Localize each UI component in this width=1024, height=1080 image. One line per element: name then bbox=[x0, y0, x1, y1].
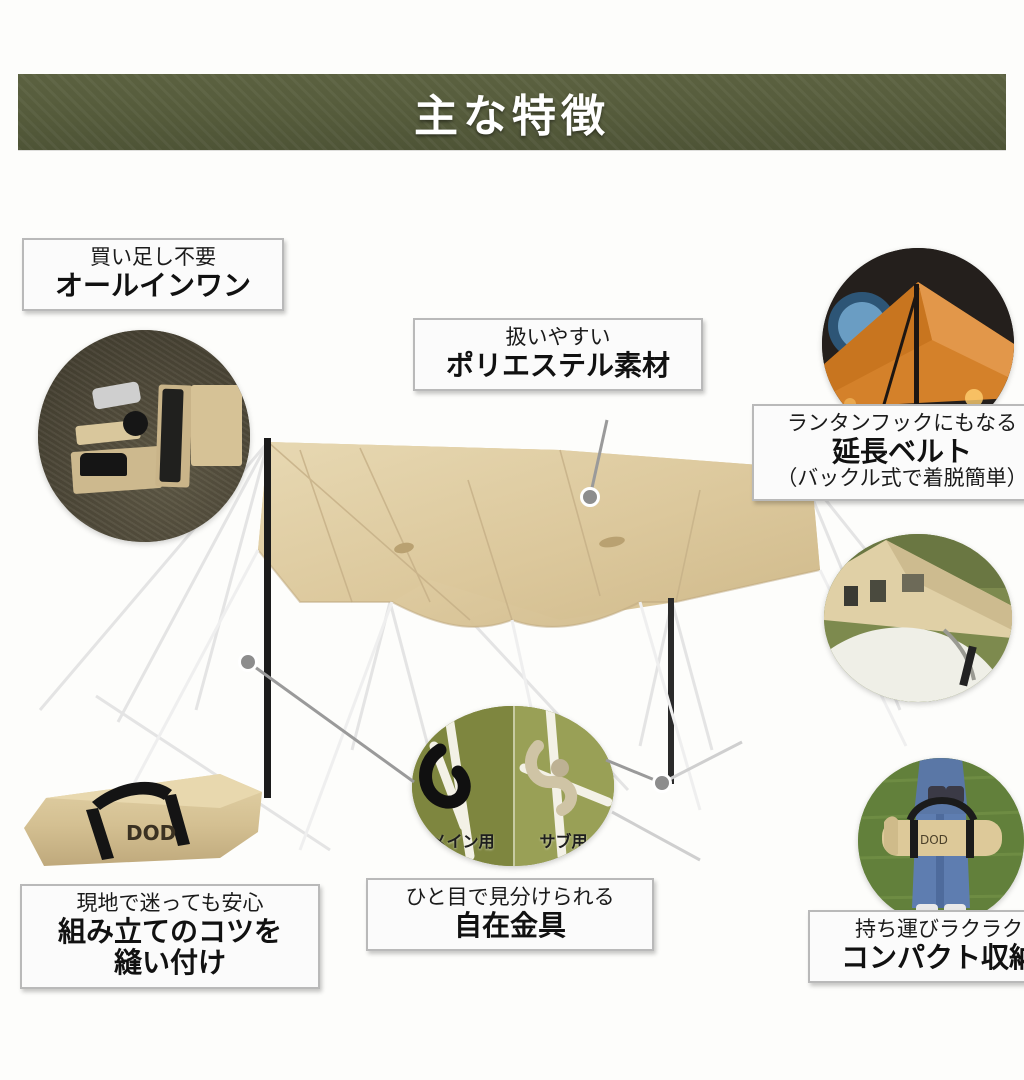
callout-label-compact-storage: 持ち運びラクラク コンパクト収納 bbox=[808, 910, 1024, 983]
callout-dot-runner-left bbox=[238, 652, 258, 672]
callout-maintext-line2: 縫い付け bbox=[32, 947, 308, 979]
callout-subtext: 買い足し不要 bbox=[34, 246, 272, 270]
callout-label-extension-belt: ランタンフックにもなる 延長ベルト （バックル式で着脱簡単） bbox=[752, 404, 1024, 501]
callout-subtext: 持ち運びラクラク bbox=[820, 918, 1024, 942]
bag-brand-logo: DOD bbox=[126, 821, 176, 845]
callout-label-sewn-instructions: 現地で迷っても安心 組み立てのコツを 縫い付け bbox=[20, 884, 320, 989]
photo-caption-sub: サブ用 bbox=[513, 828, 614, 852]
photo-compact-carry: DOD bbox=[858, 758, 1024, 924]
photo-all-in-one-kit bbox=[38, 330, 250, 542]
svg-text:DOD: DOD bbox=[920, 833, 948, 847]
photo-extension-belt bbox=[824, 534, 1012, 702]
kit-item-poles bbox=[159, 389, 183, 483]
callout-label-polyester: 扱いやすい ポリエステル素材 bbox=[413, 318, 703, 391]
callout-dot-runner-right bbox=[652, 773, 672, 793]
callout-subtext: ランタンフックにもなる bbox=[764, 412, 1024, 436]
section-header-banner: 主な特徴 bbox=[18, 74, 1006, 150]
callout-maintext: 自在金具 bbox=[378, 910, 642, 942]
kit-item-rope-coil bbox=[123, 411, 148, 436]
photo-rope-runner: メイン用 サブ用 bbox=[412, 706, 614, 866]
callout-subtext: 現地で迷っても安心 bbox=[32, 892, 308, 916]
callout-maintext: ポリエステル素材 bbox=[425, 350, 691, 382]
kit-item-tarp-bag bbox=[191, 385, 242, 466]
page-title: 主な特徴 bbox=[414, 80, 610, 144]
callout-subtext: ひと目で見分けられる bbox=[378, 886, 642, 910]
callout-label-all-in-one: 買い足し不要 オールインワン bbox=[22, 238, 284, 311]
storage-bag-illustration: DOD bbox=[14, 762, 272, 882]
feature-infographic-page: 主な特徴 bbox=[0, 0, 1024, 1080]
callout-maintext: コンパクト収納 bbox=[820, 942, 1024, 974]
callout-maintext: 組み立てのコツを bbox=[32, 916, 308, 948]
callout-maintext: 延長ベルト bbox=[764, 436, 1024, 468]
kit-item-stakes bbox=[80, 453, 127, 476]
callout-maintext: オールインワン bbox=[34, 270, 272, 302]
callout-subtext: 扱いやすい bbox=[425, 326, 691, 350]
photo-caption-main: メイン用 bbox=[412, 828, 513, 852]
callout-dot-polyester bbox=[580, 487, 600, 507]
callout-notetext: （バックル式で着脱簡単） bbox=[764, 467, 1024, 491]
callout-label-rope-runner: ひと目で見分けられる 自在金具 bbox=[366, 878, 654, 951]
